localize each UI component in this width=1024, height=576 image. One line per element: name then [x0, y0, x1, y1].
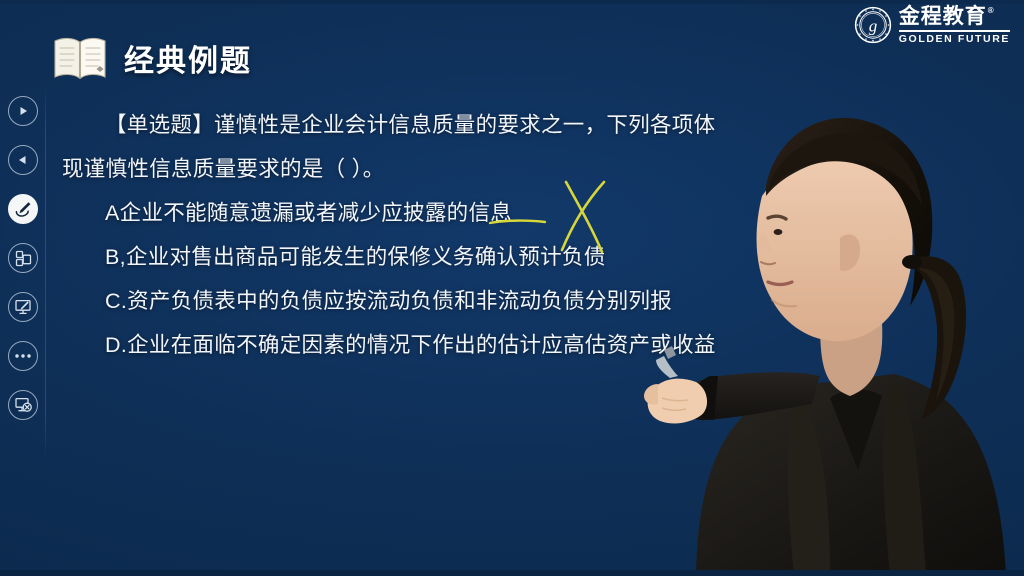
slide-header: 经典例题	[52, 32, 252, 84]
presentation-toolbar	[0, 96, 46, 446]
monitor-close-icon	[14, 396, 32, 414]
slide-body: 【单选题】谨慎性是企业会计信息质量的要求之一，下列各项体现谨慎性信息质量要求的是…	[62, 103, 722, 367]
option-d: D.企业在面临不确定因素的情况下作出的估计应高估资产或收益	[62, 323, 722, 367]
brand-logo: g 金程教育 ® GOLDEN FUTURE	[854, 6, 1010, 45]
annotate-screen-button[interactable]	[8, 292, 38, 322]
play-icon	[16, 104, 30, 118]
bottom-letterbox-band	[0, 570, 1024, 576]
brand-name-en: GOLDEN FUTURE	[899, 34, 1010, 45]
option-a: A企业不能随意遗漏或者减少应披露的信息	[62, 191, 722, 235]
play-previous-button[interactable]	[8, 145, 38, 175]
brand-name-cn: 金程教育	[899, 6, 987, 27]
option-b: B,企业对售出商品可能发生的保修义务确认预计负债	[62, 235, 722, 279]
svg-text:g: g	[869, 17, 878, 36]
more-options-button[interactable]	[8, 341, 38, 371]
question-stem: 【单选题】谨慎性是企业会计信息质量的要求之一，下列各项体现谨慎性信息质量要求的是…	[62, 103, 722, 191]
layout-grid-icon	[15, 250, 32, 267]
previous-icon	[16, 153, 30, 167]
golden-future-seal-icon: g	[854, 6, 892, 44]
layout-button[interactable]	[8, 243, 38, 273]
lecturer-video-overlay	[644, 0, 1024, 576]
ellipsis-icon	[14, 353, 32, 359]
end-show-button[interactable]	[8, 390, 38, 420]
logo-divider-rule	[899, 30, 1010, 32]
page-title: 经典例题	[124, 36, 252, 80]
play-next-button[interactable]	[8, 96, 38, 126]
presentation-slide: 经典例题 【单选题】谨慎性是企业会计信息质量的要求之一，下列各项体现谨慎性信息质…	[0, 0, 1024, 576]
registered-mark: ®	[988, 7, 995, 15]
pen-tool-button[interactable]	[8, 194, 38, 224]
option-c: C.资产负债表中的负债应按流动负债和非流动负债分别列报	[62, 279, 722, 323]
pen-icon	[13, 199, 33, 219]
open-book-icon	[52, 32, 108, 84]
screen-pen-icon	[14, 298, 32, 316]
